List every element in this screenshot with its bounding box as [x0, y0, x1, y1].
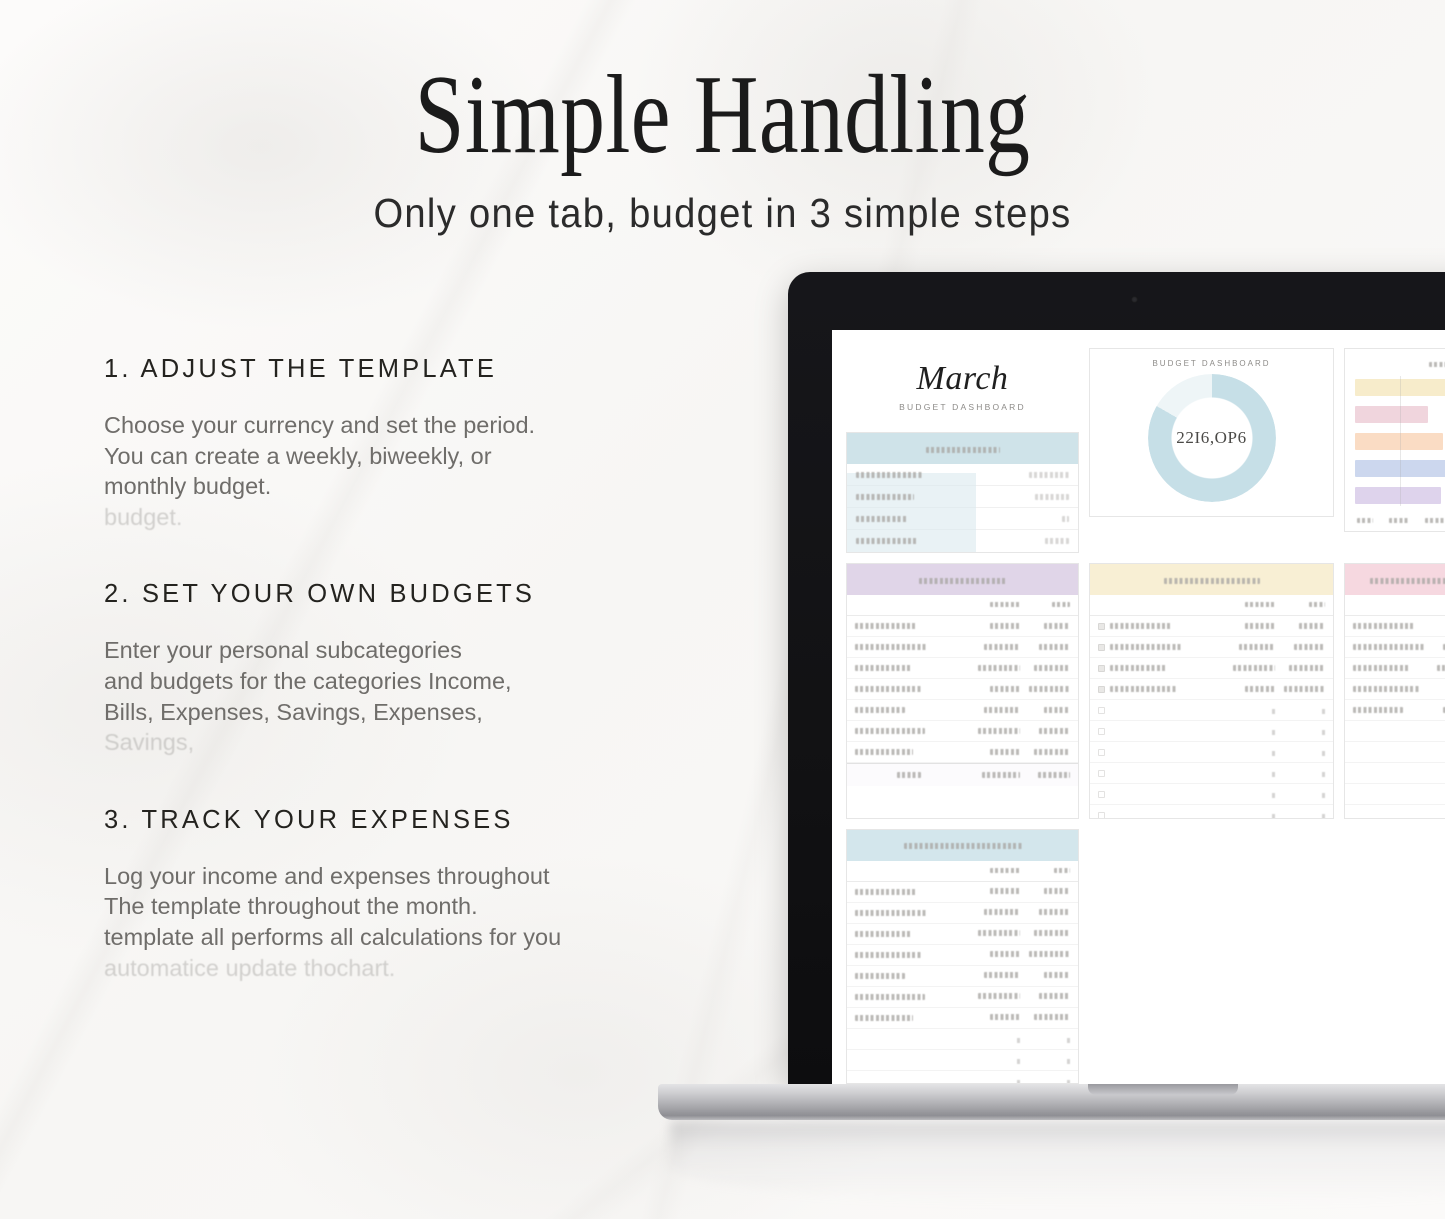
step-3-line-3: template all performs all calculations f… [104, 922, 664, 953]
row-budget [978, 993, 1020, 999]
table-row[interactable] [847, 903, 1078, 924]
bar-row [1355, 484, 1445, 506]
donut-chart-panel: BUDGET DASHBOARD 22I6,OP6 [1089, 348, 1334, 517]
income-table-header [847, 830, 1078, 861]
step-2-line-2: and budgets for the categories Income, [104, 666, 664, 697]
row-actual [1034, 749, 1070, 755]
row-actual [1039, 644, 1070, 650]
table-row-empty[interactable] [1090, 805, 1333, 819]
row-placeholder [1272, 814, 1275, 819]
row-actual [1044, 888, 1070, 894]
row-actual [1029, 686, 1070, 692]
income-rows [847, 882, 1078, 1085]
table-row[interactable] [1345, 658, 1445, 679]
expenses-table [1089, 563, 1334, 819]
row-budget [990, 686, 1020, 692]
row-checkbox-icon[interactable] [1098, 728, 1105, 735]
summary-row-value [1045, 538, 1069, 544]
donut-chart-title: BUDGET DASHBOARD [1098, 359, 1325, 368]
axis-tick [1357, 518, 1373, 523]
row-label [855, 749, 913, 755]
bar [1355, 487, 1441, 504]
row-actual [1034, 930, 1070, 936]
table-row-empty[interactable] [847, 1071, 1078, 1085]
step-3-body: Log your income and expenses throughout … [104, 861, 664, 983]
savings-table [1344, 563, 1445, 819]
row-placeholder [1322, 730, 1325, 735]
row-actual [1034, 1014, 1070, 1020]
step-2-artifact-line: Savings, [104, 727, 664, 758]
table-column-header [847, 595, 1078, 616]
total-budget [982, 772, 1020, 778]
row-actual [1044, 707, 1070, 713]
column-label-budget [990, 602, 1020, 607]
row-actual [1039, 728, 1070, 734]
table-row[interactable] [1345, 616, 1445, 637]
row-placeholder [1272, 730, 1275, 735]
row-label [1110, 644, 1182, 650]
column-label-actual [1054, 868, 1070, 873]
row-label [855, 931, 911, 937]
row-budget [984, 644, 1020, 650]
table-row-empty[interactable] [1090, 784, 1333, 805]
table-row-empty[interactable] [1345, 763, 1445, 784]
table-column-header [1345, 595, 1445, 616]
row-label [855, 707, 905, 713]
table-row[interactable] [1090, 616, 1333, 637]
row-budget [978, 930, 1020, 936]
row-label [1353, 707, 1403, 713]
row-budget [978, 665, 1020, 671]
table-row[interactable] [847, 987, 1078, 1008]
row-budget [984, 707, 1020, 713]
bar-chart-title-text [1429, 362, 1445, 367]
summary-row-value [1062, 516, 1069, 522]
table-row[interactable] [847, 945, 1078, 966]
row-placeholder [1067, 1059, 1070, 1064]
row-label [1353, 686, 1419, 692]
table-row[interactable] [847, 882, 1078, 903]
step-1-title: 1. ADJUST THE TEMPLATE [104, 355, 664, 384]
row-label [855, 623, 917, 629]
row-actual [1044, 623, 1070, 629]
step-2-body: Enter your personal subcategories and bu… [104, 635, 664, 757]
row-checkbox-icon[interactable] [1098, 812, 1105, 819]
row-actual [1044, 972, 1070, 978]
row-label [855, 994, 925, 1000]
row-actual [1039, 909, 1070, 915]
row-label [855, 952, 921, 958]
row-checkbox-icon[interactable] [1098, 749, 1105, 756]
table-column-header [1090, 595, 1333, 616]
table-row[interactable] [1090, 637, 1333, 658]
table-row-empty[interactable] [1090, 742, 1333, 763]
bar-row [1355, 376, 1445, 398]
table-column-header [847, 861, 1078, 882]
table-row-empty[interactable] [1090, 763, 1333, 784]
column-label-actual [1309, 602, 1325, 607]
row-budget [990, 951, 1020, 957]
row-placeholder [1017, 1038, 1020, 1043]
row-label [855, 728, 925, 734]
row-actual [1284, 686, 1325, 692]
step-1-line-3: monthly budget. [104, 471, 664, 502]
row-budget [984, 972, 1020, 978]
row-label [855, 644, 927, 650]
row-placeholder [1322, 793, 1325, 798]
table-row[interactable] [1345, 679, 1445, 700]
row-budget [1239, 644, 1275, 650]
table-row[interactable] [847, 637, 1078, 658]
laptop-bezel [788, 272, 1445, 330]
summary-card-header [847, 433, 1078, 464]
table-row-empty[interactable] [847, 1050, 1078, 1071]
step-1-artifact-line: budget. [104, 502, 664, 533]
row-label [1353, 644, 1425, 650]
summary-row-value [1035, 494, 1069, 500]
table-row[interactable] [847, 966, 1078, 987]
row-label [1110, 623, 1172, 629]
budget-spreadsheet: March BUDGET DASHBOARD [832, 330, 1445, 1084]
column-label-budget [1245, 602, 1275, 607]
webcam-icon [1131, 296, 1138, 303]
step-3-line-2: The template throughout the month. [104, 891, 664, 922]
row-placeholder [1272, 709, 1275, 714]
summary-row [847, 508, 1078, 530]
summary-row-value [1029, 472, 1069, 478]
steps-column: 1. ADJUST THE TEMPLATE Choose your curre… [104, 355, 664, 983]
summary-row [847, 530, 1078, 552]
row-checkbox-icon[interactable] [1098, 686, 1105, 693]
table-row[interactable] [1345, 637, 1445, 658]
summary-rows [847, 464, 1078, 552]
row-actual [1299, 623, 1325, 629]
row-checkbox-icon[interactable] [1098, 623, 1105, 630]
total-actual [1038, 772, 1070, 778]
table-row-empty[interactable] [1345, 742, 1445, 763]
step-2-title: 2. SET YOUR OWN BUDGETS [104, 580, 664, 609]
bar [1355, 406, 1428, 423]
row-actual [1294, 644, 1325, 650]
bills-table [846, 563, 1079, 819]
donut-chart: 22I6,OP6 [1148, 374, 1276, 502]
table-row[interactable] [847, 924, 1078, 945]
row-label [855, 910, 927, 916]
row-checkbox-icon[interactable] [1098, 707, 1105, 714]
row-checkbox-icon[interactable] [1098, 791, 1105, 798]
savings-table-header-text [1370, 578, 1445, 584]
savings-table-header [1345, 564, 1445, 595]
month-title: March [846, 360, 1079, 398]
row-placeholder [1322, 751, 1325, 756]
row-label [855, 1015, 913, 1021]
row-actual [1029, 951, 1070, 957]
row-budget [990, 749, 1020, 755]
headline-block: Simple Handling Only one tab, budget in … [0, 56, 1445, 238]
row-actual [1039, 993, 1070, 999]
bar-chart-axis [1353, 511, 1445, 523]
row-placeholder [1272, 772, 1275, 777]
summary-row-label [856, 538, 918, 544]
row-budget [978, 728, 1020, 734]
step-3-title: 3. TRACK YOUR EXPENSES [104, 806, 664, 835]
summary-card-header-text [926, 447, 1000, 453]
table-row[interactable] [847, 721, 1078, 742]
month-subtitle: BUDGET DASHBOARD [846, 402, 1079, 412]
total-label [897, 772, 921, 778]
laptop-base-notch [1088, 1084, 1238, 1095]
summary-row-label [856, 494, 914, 500]
summary-row-label [856, 472, 922, 478]
column-label-budget [990, 868, 1020, 873]
column-label-actual [1052, 602, 1070, 607]
step-3-artifact-line: automatice update thochart. [104, 953, 664, 984]
row-placeholder [1322, 709, 1325, 714]
bar-row [1355, 430, 1445, 452]
step-1-line-2: You can create a weekly, biweekly, or [104, 441, 664, 472]
row-budget [990, 888, 1020, 894]
bills-table-header [847, 564, 1078, 595]
row-checkbox-icon[interactable] [1098, 665, 1105, 672]
row-placeholder [1272, 751, 1275, 756]
table-row[interactable] [1090, 679, 1333, 700]
bar [1355, 460, 1445, 477]
bills-total-row [847, 763, 1078, 786]
laptop-screen: March BUDGET DASHBOARD [832, 330, 1445, 1084]
bills-table-header-text [919, 578, 1007, 584]
row-actual [1289, 665, 1325, 671]
row-label [1353, 665, 1409, 671]
bar [1355, 379, 1445, 396]
laptop-base [658, 1084, 1445, 1120]
row-checkbox-icon[interactable] [1098, 644, 1105, 651]
table-row[interactable] [1090, 658, 1333, 679]
axis-tick [1425, 518, 1445, 523]
row-budget [984, 909, 1020, 915]
step-2-line-1: Enter your personal subcategories [104, 635, 664, 666]
step-item-1: 1. ADJUST THE TEMPLATE Choose your curre… [104, 355, 664, 532]
row-checkbox-icon[interactable] [1098, 770, 1105, 777]
bar-row [1355, 403, 1445, 425]
table-row-empty[interactable] [1345, 805, 1445, 819]
row-budget [1245, 623, 1275, 629]
expenses-table-header [1090, 564, 1333, 595]
row-budget [990, 623, 1020, 629]
step-3-line-1: Log your income and expenses throughout [104, 861, 664, 892]
row-placeholder [1322, 772, 1325, 777]
month-and-summary-column: March BUDGET DASHBOARD [846, 344, 1079, 553]
donut-center-label: 22I6,OP6 [1148, 374, 1276, 502]
bar-row [1355, 457, 1445, 479]
savings-rows [1345, 616, 1445, 819]
row-placeholder [1322, 814, 1325, 819]
summary-card [846, 432, 1079, 553]
bar-chart-panel [1344, 348, 1445, 532]
row-placeholder [1272, 793, 1275, 798]
step-2-line-3: Bills, Expenses, Savings, Expenses, [104, 697, 664, 728]
laptop-mockup: March BUDGET DASHBOARD [788, 272, 1445, 1092]
table-row[interactable] [847, 1008, 1078, 1029]
row-actual [1034, 665, 1070, 671]
bar-chart-title [1353, 359, 1445, 368]
step-1-body: Choose your currency and set the period.… [104, 410, 664, 532]
row-label [855, 973, 905, 979]
row-label [1110, 686, 1176, 692]
table-row-empty[interactable] [1090, 700, 1333, 721]
expenses-table-body [1090, 595, 1333, 819]
expenses-rows [1090, 616, 1333, 819]
row-placeholder [1067, 1038, 1070, 1043]
income-table-body [847, 861, 1078, 1085]
bar [1355, 433, 1443, 450]
table-row[interactable] [847, 742, 1078, 763]
row-label [1110, 665, 1166, 671]
row-label [855, 686, 921, 692]
table-row-empty[interactable] [1090, 721, 1333, 742]
page-title: Simple Handling [145, 56, 1301, 175]
bar-chart-bars [1353, 376, 1445, 506]
month-header: March BUDGET DASHBOARD [846, 344, 1079, 418]
summary-row [847, 486, 1078, 508]
row-budget [1233, 665, 1275, 671]
laptop-lid: March BUDGET DASHBOARD [788, 272, 1445, 1084]
row-label [855, 889, 917, 895]
table-row-empty[interactable] [1345, 784, 1445, 805]
row-label [1353, 623, 1415, 629]
table-row[interactable] [847, 658, 1078, 679]
table-row[interactable] [847, 616, 1078, 637]
step-item-2: 2. SET YOUR OWN BUDGETS Enter your perso… [104, 580, 664, 757]
row-label [855, 665, 911, 671]
row-budget [990, 1014, 1020, 1020]
bills-table-body [847, 595, 1078, 786]
expenses-table-header-text [1164, 578, 1260, 584]
table-row[interactable] [847, 679, 1078, 700]
page-subtitle: Only one tab, budget in 3 simple steps [51, 189, 1395, 238]
axis-tick [1389, 518, 1410, 523]
row-placeholder [1017, 1059, 1020, 1064]
income-table-header-text [904, 843, 1022, 849]
summary-row [847, 464, 1078, 486]
row-budget [1437, 665, 1445, 671]
table-row-empty[interactable] [847, 1029, 1078, 1050]
table-row[interactable] [847, 700, 1078, 721]
step-item-3: 3. TRACK YOUR EXPENSES Log your income a… [104, 806, 664, 983]
income-table [846, 829, 1079, 1085]
table-row-empty[interactable] [1345, 721, 1445, 742]
bills-rows [847, 616, 1078, 763]
summary-row-label [856, 516, 908, 522]
savings-table-body [1345, 595, 1445, 819]
table-row[interactable] [1345, 700, 1445, 721]
step-1-line-1: Choose your currency and set the period. [104, 410, 664, 441]
row-budget [1245, 686, 1275, 692]
